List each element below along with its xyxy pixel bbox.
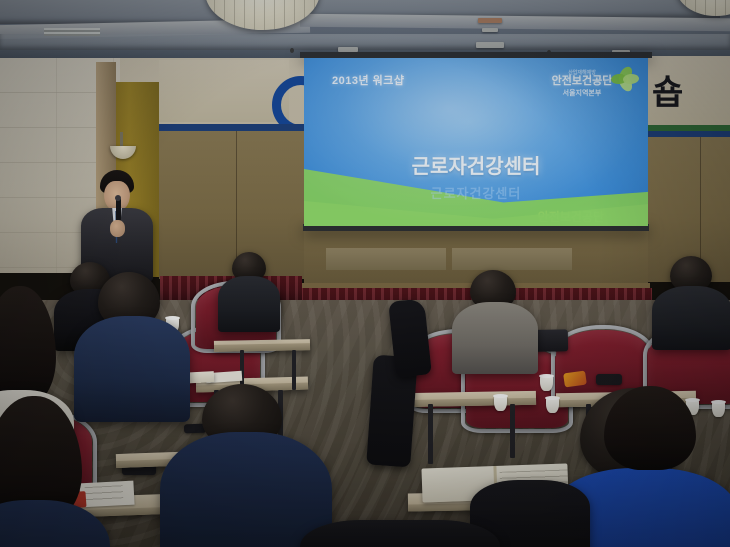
microphone	[116, 198, 121, 222]
kosha-clover-mark-icon	[614, 67, 638, 91]
attendee-torso	[652, 286, 730, 350]
back-wall-upper-left	[159, 60, 289, 122]
seminar-room-photo: 숍 2013년 워크샵 산업재해예방 안전보건공단 서울지역본부 근로자건강센터…	[0, 0, 730, 547]
projection-screen: 2013년 워크샵 산업재해예방 안전보건공단 서울지역본부 근로자건강센터 안…	[304, 58, 648, 226]
slide-logo-tagline: 산업재해예방	[544, 69, 620, 76]
attendee-blue-vest	[76, 272, 186, 402]
attendee-dark-vest	[218, 252, 278, 312]
paper-cup	[546, 398, 559, 413]
attendee-hair	[0, 286, 56, 406]
ceiling-fixture-b	[482, 28, 498, 32]
attendee-hair	[604, 386, 696, 470]
attendee-right-dark-jacket	[656, 256, 724, 328]
slide-logo: 산업재해예방 안전보건공단 서울지역본부	[544, 69, 636, 98]
wall-sign-glyph: 숍	[652, 76, 683, 110]
presenter-hand	[110, 220, 125, 237]
attendee-behind-blue	[604, 386, 714, 476]
attendee-grey-hoodie	[452, 270, 534, 360]
attendee-torso	[300, 520, 500, 547]
wall-stripe-blue-left	[159, 124, 304, 131]
microphone-head	[115, 195, 121, 201]
paper-cup	[494, 396, 507, 411]
phone	[596, 374, 622, 385]
ceiling-spot-a	[290, 48, 294, 53]
paper-cup	[540, 376, 553, 391]
attendee-torso	[218, 276, 280, 332]
table	[400, 391, 536, 407]
slide-logo-organization: 안전보건공단	[544, 76, 620, 88]
table-leg	[510, 404, 515, 458]
ceiling-vent-left	[44, 28, 100, 36]
wall-trim-b	[452, 248, 572, 270]
attendee-torso	[452, 302, 538, 374]
table-leg	[428, 404, 433, 464]
attendee-foreground-navy	[168, 388, 318, 547]
ceiling-fixture-c	[476, 42, 504, 48]
ceiling-fixture-a	[478, 18, 502, 23]
attendee-foreground-left	[0, 396, 114, 547]
slide-kicker-text: 2013년 워크샵	[332, 72, 405, 88]
clover-petal-4	[623, 73, 640, 84]
slide-logo-division: 서울지역본부	[544, 88, 620, 98]
table-leg	[292, 350, 296, 390]
slide-title-text: 근로자건강센터	[304, 150, 648, 179]
ceiling-bay-center	[0, 34, 730, 50]
attendee-torso	[0, 500, 110, 547]
attendee-foreground-bottom	[300, 520, 500, 547]
wall-trim-a	[326, 248, 446, 270]
slide-ghost-text: 근로자건강센터	[304, 183, 648, 202]
